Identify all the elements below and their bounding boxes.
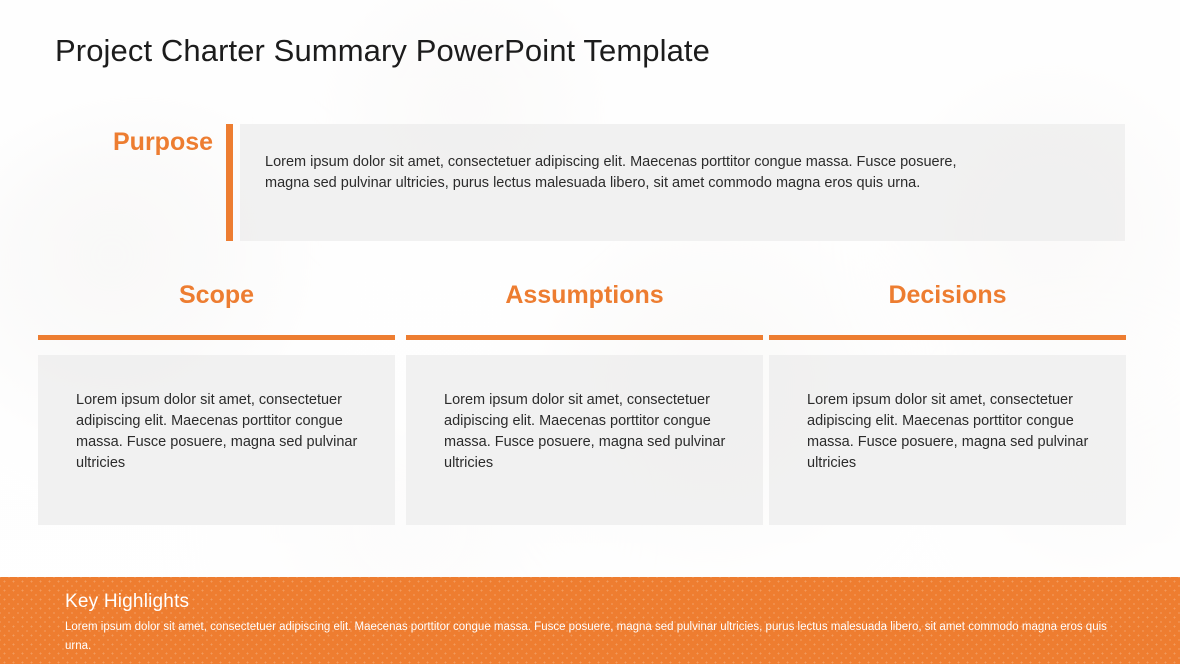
- column-heading-decisions: Decisions: [769, 280, 1126, 326]
- column-scope: Scope Lorem ipsum dolor sit amet, consec…: [38, 280, 395, 525]
- key-highlights-band: Key Highlights Lorem ipsum dolor sit ame…: [0, 577, 1180, 664]
- purpose-body-text: Lorem ipsum dolor sit amet, consectetuer…: [265, 152, 985, 194]
- column-card-assumptions: Lorem ipsum dolor sit amet, consectetuer…: [406, 355, 763, 525]
- column-body-assumptions: Lorem ipsum dolor sit amet, consectetuer…: [406, 355, 763, 474]
- key-highlights-body: Lorem ipsum dolor sit amet, consectetuer…: [65, 618, 1110, 656]
- column-decisions: Decisions Lorem ipsum dolor sit amet, co…: [769, 280, 1126, 525]
- column-card-scope: Lorem ipsum dolor sit amet, consectetuer…: [38, 355, 395, 525]
- column-card-decisions: Lorem ipsum dolor sit amet, consectetuer…: [769, 355, 1126, 525]
- column-heading-assumptions: Assumptions: [406, 280, 763, 326]
- column-assumptions: Assumptions Lorem ipsum dolor sit amet, …: [406, 280, 763, 525]
- purpose-label: Purpose: [113, 128, 213, 157]
- column-heading-scope: Scope: [38, 280, 395, 326]
- slide-title: Project Charter Summary PowerPoint Templ…: [55, 33, 710, 69]
- column-rule: [769, 335, 1126, 340]
- key-highlights-title: Key Highlights: [65, 591, 189, 613]
- column-body-scope: Lorem ipsum dolor sit amet, consectetuer…: [38, 355, 395, 474]
- slide-canvas: Project Charter Summary PowerPoint Templ…: [0, 0, 1180, 664]
- purpose-accent-bar: [226, 124, 233, 241]
- column-rule: [38, 335, 395, 340]
- column-body-decisions: Lorem ipsum dolor sit amet, consectetuer…: [769, 355, 1126, 474]
- column-rule: [406, 335, 763, 340]
